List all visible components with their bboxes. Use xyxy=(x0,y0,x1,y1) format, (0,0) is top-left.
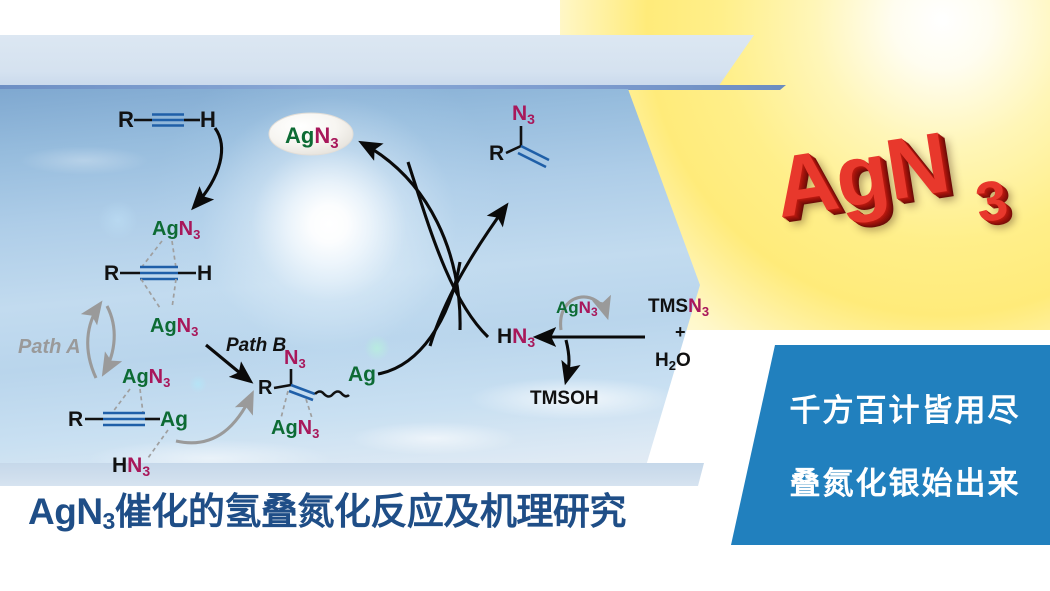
lens-flare-dot xyxy=(364,335,390,361)
cloud-texture xyxy=(0,89,700,486)
graphical-abstract-canvas: R H AgN3 AgN3 R xyxy=(0,0,1050,591)
footer-band xyxy=(0,463,720,486)
agn3-logo-subscript: 3 xyxy=(971,166,1012,235)
title-main: AgN xyxy=(28,491,103,532)
title-subscript: 3 xyxy=(103,508,115,534)
sky-photo-panel xyxy=(0,89,700,486)
page-title: AgN3催化的氢叠氮化反应及机理研究 xyxy=(28,489,708,537)
title-rest: 催化的氢叠氮化反应及机理研究 xyxy=(115,491,626,532)
header-band xyxy=(0,35,770,87)
slogan-box: 千方百计皆用尽 叠氮化银始出来 xyxy=(731,345,1050,545)
lens-flare-dot xyxy=(98,200,138,240)
slogan-line-2: 叠氮化银始出来 xyxy=(767,458,1043,503)
lens-flare-dot xyxy=(189,375,207,393)
slogan-line-1: 千方百计皆用尽 xyxy=(767,385,1043,430)
